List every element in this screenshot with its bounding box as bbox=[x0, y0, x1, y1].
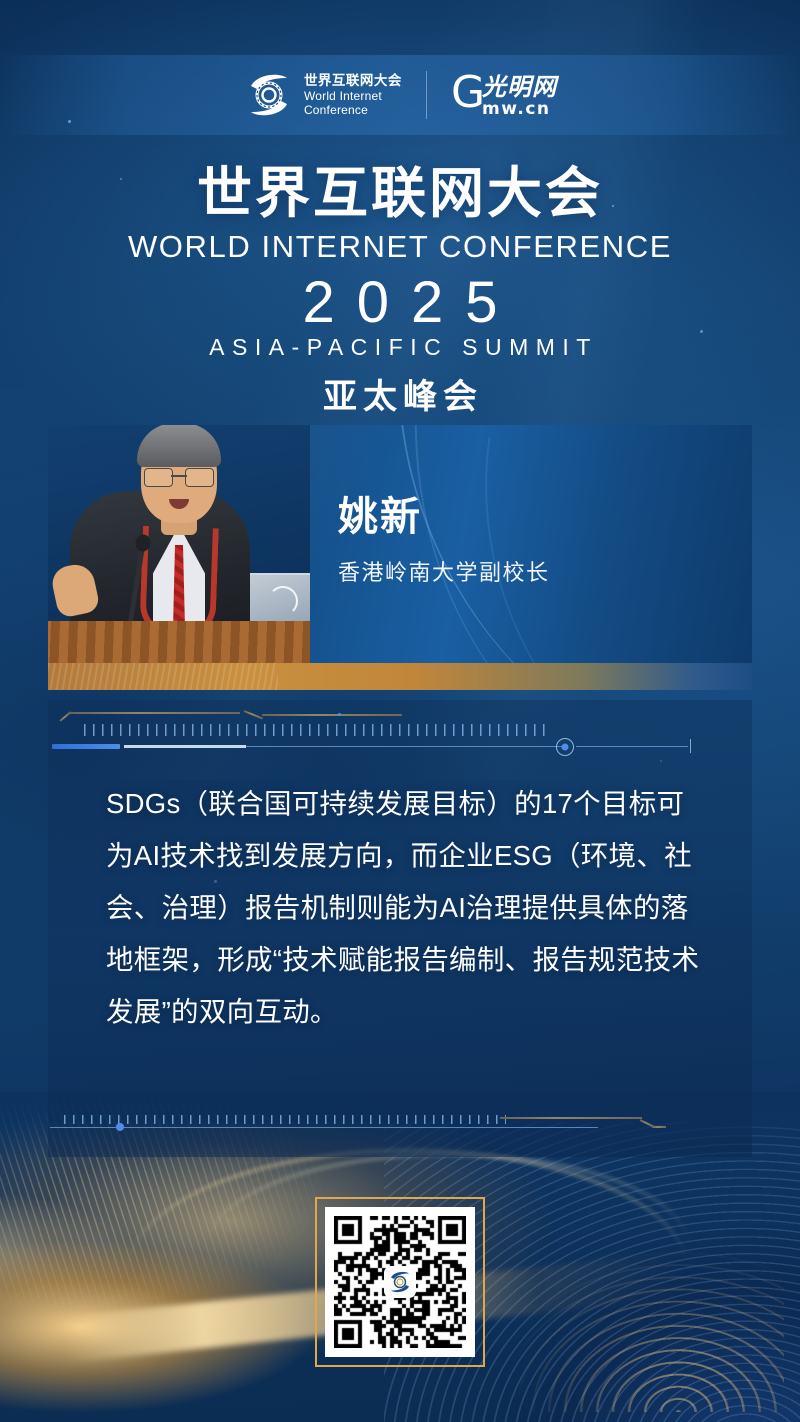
decoration-bottom bbox=[48, 1099, 752, 1151]
card-gold-bar bbox=[48, 663, 752, 690]
decoration-dot bbox=[338, 713, 341, 716]
event-title-block: 世界互联网大会 WORLD INTERNET CONFERENCE 2025 A… bbox=[0, 165, 800, 418]
glasses-icon bbox=[144, 468, 214, 485]
quote-panel: SDGs（联合国可持续发展目标）的17个目标可为AI技术找到发展方向，而企业ES… bbox=[48, 700, 752, 1157]
wic-logo-cn: 世界互联网大会 bbox=[304, 73, 402, 89]
qr-box bbox=[325, 1207, 475, 1357]
poster-root: 世界互联网大会 World Internet Conference G 光明网 … bbox=[0, 0, 800, 1422]
qr-code[interactable] bbox=[325, 1207, 475, 1357]
podium bbox=[48, 621, 310, 663]
speaker-card: 姚新 香港岭南大学副校长 bbox=[48, 425, 752, 690]
title-cn-main: 世界互联网大会 bbox=[0, 165, 800, 223]
qr-center-logo bbox=[384, 1266, 416, 1298]
title-en-sub: ASIA-PACIFIC SUMMIT bbox=[0, 334, 800, 361]
gmw-logo[interactable]: G 光明网 mw.cn bbox=[451, 73, 557, 118]
speaker-role: 香港岭南大学副校长 bbox=[338, 555, 550, 587]
wic-swirl-icon bbox=[243, 69, 295, 121]
logo-divider bbox=[426, 71, 427, 119]
title-cn-sub: 亚太峰会 bbox=[0, 369, 800, 418]
speaker-info: 姚新 香港岭南大学副校长 bbox=[338, 495, 550, 587]
decoration-node bbox=[556, 738, 574, 756]
header-logo-row: 世界互联网大会 World Internet Conference G 光明网 … bbox=[0, 55, 800, 135]
quote-text: SDGs（联合国可持续发展目标）的17个目标可为AI技术找到发展方向，而企业ES… bbox=[106, 778, 706, 1038]
speaker-photo bbox=[48, 425, 310, 663]
wic-logo-en1: World Internet bbox=[304, 89, 402, 103]
decoration-dot bbox=[116, 1123, 124, 1131]
gmw-logo-cn: 光明网 bbox=[482, 75, 557, 99]
title-year: 2025 bbox=[0, 269, 800, 336]
speaker-name: 姚新 bbox=[338, 495, 550, 539]
wic-logo-en2: Conference bbox=[304, 103, 402, 117]
decoration-top bbox=[48, 708, 752, 760]
title-en-main: WORLD INTERNET CONFERENCE bbox=[0, 229, 800, 265]
gmw-g-mark: G bbox=[451, 73, 485, 113]
name-placard bbox=[248, 573, 310, 627]
gmw-logo-url: mw.cn bbox=[482, 101, 557, 118]
wic-logo[interactable]: 世界互联网大会 World Internet Conference bbox=[243, 69, 402, 121]
